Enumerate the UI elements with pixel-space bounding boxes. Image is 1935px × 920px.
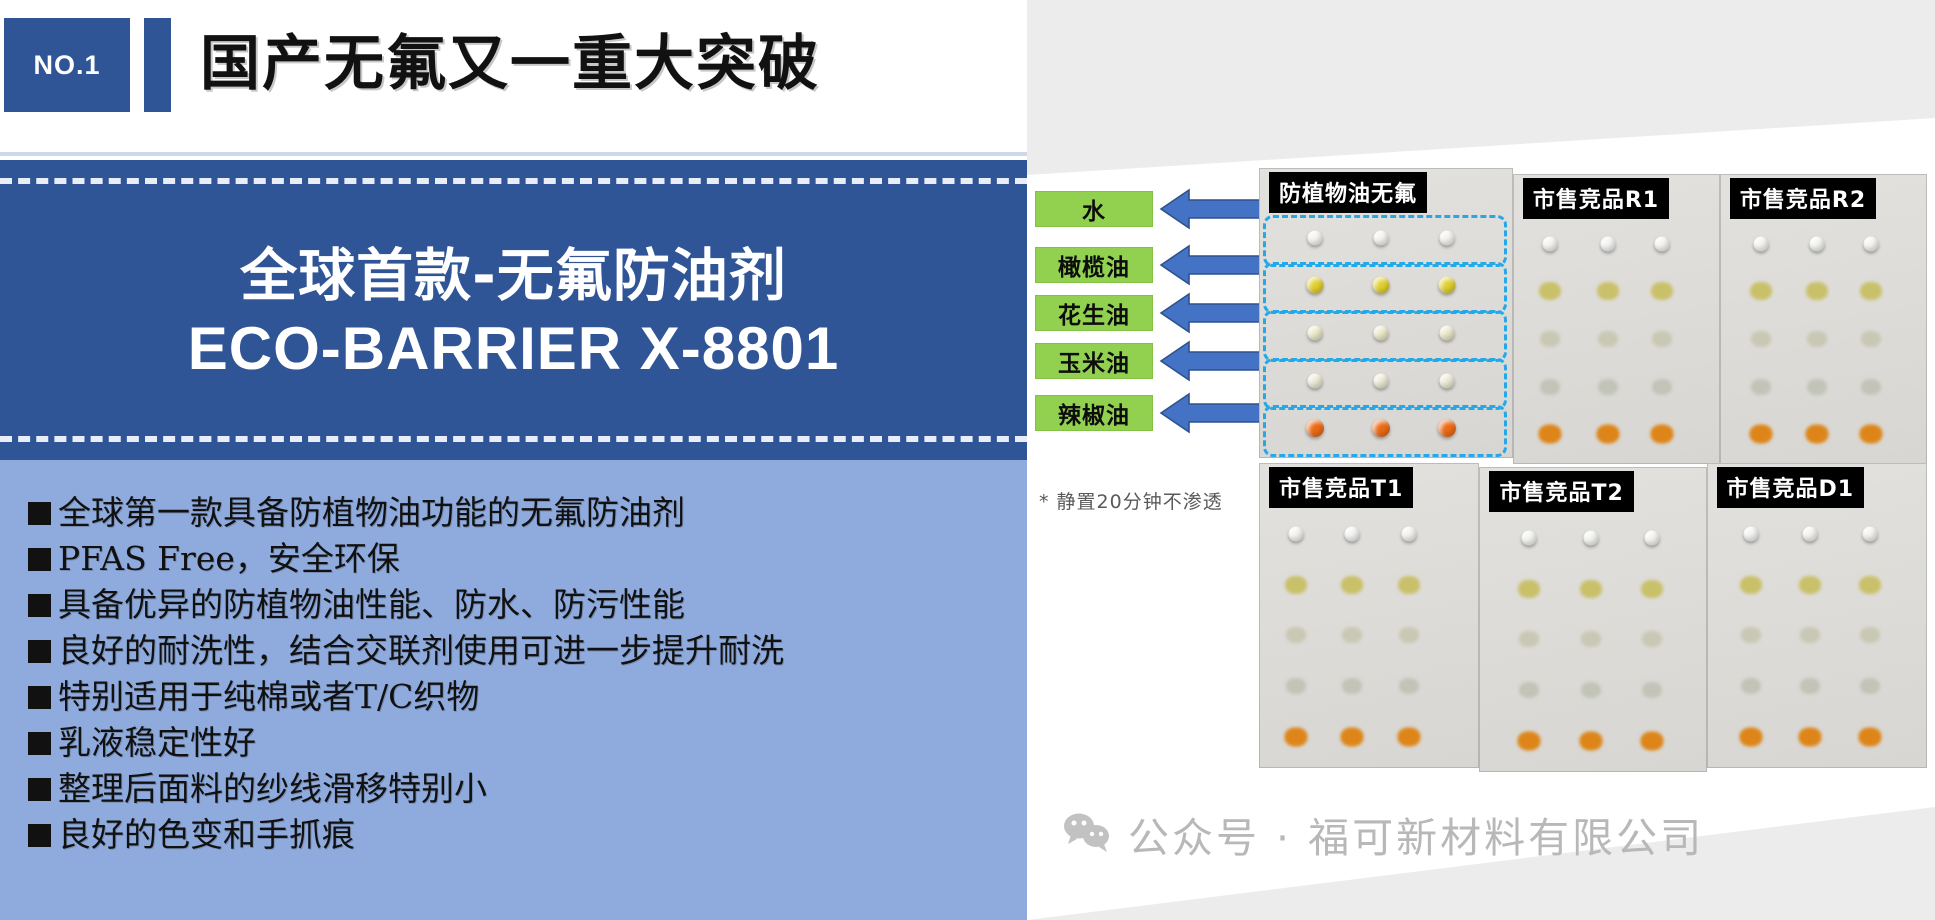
droplet xyxy=(1399,678,1419,694)
droplet xyxy=(1597,425,1620,444)
droplet xyxy=(1741,678,1761,694)
droplet-row xyxy=(1707,661,1927,712)
droplet xyxy=(1518,580,1540,598)
droplet xyxy=(1750,425,1773,444)
feature-bullet: 整理后面料的纱线滑移特别小 xyxy=(28,766,1027,812)
panel-label: 市售竞品D1 xyxy=(1717,467,1865,508)
bullet-square-icon xyxy=(28,778,51,801)
bullet-square-icon xyxy=(28,594,51,617)
photo-row-bottom: 市售竞品T1市售竞品T2市售竞品D1 xyxy=(1259,463,1927,768)
droplet xyxy=(1598,331,1618,347)
feature-bullet: 具备优异的防植物油性能、防水、防污性能 xyxy=(28,582,1027,628)
droplet xyxy=(1540,331,1560,347)
droplet xyxy=(1645,531,1660,546)
droplet-row xyxy=(1707,509,1927,560)
banner-dashed-top-border xyxy=(0,178,1027,184)
droplet xyxy=(1342,678,1362,694)
droplet-row xyxy=(1479,614,1706,665)
droplet xyxy=(1344,527,1359,542)
panel-label: 市售竞品T2 xyxy=(1489,471,1633,512)
droplet-matrix xyxy=(1259,214,1513,452)
watermark-text: 公众号 · 福可新材料有限公司 xyxy=(1128,804,1704,864)
droplet xyxy=(1860,282,1882,300)
droplet-row xyxy=(1513,220,1720,268)
droplet xyxy=(1289,527,1304,542)
banner-product-code: ECO-BARRIER X-8801 xyxy=(188,312,840,386)
droplet xyxy=(1522,531,1537,546)
left-arrow-icon xyxy=(1159,243,1263,287)
highlight-box xyxy=(1263,262,1507,314)
droplet-row xyxy=(1720,220,1927,268)
droplet xyxy=(1341,576,1363,594)
legend-row: 水 xyxy=(1035,184,1265,238)
feature-bullet: 特别适用于纯棉或者T/C织物 xyxy=(28,674,1027,720)
droplet-matrix xyxy=(1513,220,1720,458)
test-panel: 市售竞品D1 xyxy=(1707,463,1927,768)
droplet xyxy=(1858,727,1881,746)
watermark: 公众号 · 福可新材料有限公司 xyxy=(1062,804,1704,864)
feature-bullet-label: 整理后面料的纱线滑移特别小 xyxy=(58,766,487,812)
droplet xyxy=(1860,627,1880,643)
droplet-row xyxy=(1259,262,1513,310)
feature-bullet-label: 良好的色变和手抓痕 xyxy=(58,812,355,858)
feature-bullet-label: PFAS Free，安全环保 xyxy=(58,536,400,582)
droplet xyxy=(1800,678,1820,694)
droplet xyxy=(1650,425,1673,444)
droplet xyxy=(1861,331,1881,347)
droplet-row xyxy=(1720,268,1927,316)
droplet xyxy=(1861,379,1881,395)
feature-bullet: 良好的色变和手抓痕 xyxy=(28,812,1027,858)
droplet xyxy=(1740,576,1762,594)
feature-bullet: 良好的耐洗性，结合交联剂使用可进一步提升耐洗 xyxy=(28,628,1027,674)
droplet-matrix xyxy=(1479,513,1706,766)
left-arrow-icon xyxy=(1159,339,1263,383)
left-arrow-icon xyxy=(1159,391,1263,435)
droplet xyxy=(1806,425,1829,444)
product-banner: 全球首款-无氟防油剂 ECO-BARRIER X-8801 xyxy=(0,160,1027,460)
droplet xyxy=(1579,731,1602,750)
droplet xyxy=(1581,631,1601,647)
right-column: 水橄榄油花生油玉米油辣椒油 * 静置20分钟不渗透 防植物油无氟市售竞品R1市售… xyxy=(1027,0,1935,920)
decorative-diagonal-top xyxy=(1027,0,1935,175)
droplet-matrix xyxy=(1707,509,1927,762)
droplet-row xyxy=(1259,610,1479,661)
droplet xyxy=(1340,727,1363,746)
droplet xyxy=(1750,282,1772,300)
banner-dashed-bottom-border xyxy=(0,436,1027,442)
droplet-row xyxy=(1259,357,1513,405)
droplet xyxy=(1807,331,1827,347)
test-panel: 市售竞品T1 xyxy=(1259,463,1479,768)
droplet xyxy=(1519,631,1539,647)
bullet-square-icon xyxy=(28,732,51,755)
banner-content: 全球首款-无氟防油剂 ECO-BARRIER X-8801 xyxy=(0,208,1027,418)
liquid-legend: 水橄榄油花生油玉米油辣椒油 xyxy=(1035,176,1265,476)
droplet-row xyxy=(1479,513,1706,564)
feature-bullet-label: 具备优异的防植物油性能、防水、防污性能 xyxy=(58,582,685,628)
droplet xyxy=(1739,727,1762,746)
droplet xyxy=(1806,282,1828,300)
droplet xyxy=(1598,379,1618,395)
droplet xyxy=(1539,425,1562,444)
droplet-row xyxy=(1513,363,1720,411)
droplet xyxy=(1583,531,1598,546)
droplet-row xyxy=(1707,610,1927,661)
header-accent-bar xyxy=(144,18,171,112)
droplet xyxy=(1654,236,1669,251)
droplet xyxy=(1543,236,1558,251)
droplet xyxy=(1601,236,1616,251)
highlight-box xyxy=(1263,215,1507,267)
droplet xyxy=(1539,282,1561,300)
droplet-row xyxy=(1513,315,1720,363)
test-panel: 防植物油无氟 xyxy=(1259,168,1513,458)
page-title: 国产无氟又一重大突破 xyxy=(200,16,820,112)
wechat-icon xyxy=(1062,811,1114,858)
droplet xyxy=(1641,731,1664,750)
droplet xyxy=(1799,576,1821,594)
test-panel: 市售竞品R1 xyxy=(1513,174,1720,464)
droplet-row xyxy=(1720,363,1927,411)
droplet xyxy=(1652,331,1672,347)
bullet-square-icon xyxy=(28,548,51,571)
bullet-square-icon xyxy=(28,686,51,709)
legend-chip-1: 水 xyxy=(1035,191,1153,227)
droplet xyxy=(1519,682,1539,698)
panel-label: 市售竞品T1 xyxy=(1269,467,1413,508)
left-arrow-icon xyxy=(1159,187,1263,231)
droplet-row xyxy=(1513,268,1720,316)
droplet-row xyxy=(1707,711,1927,762)
panel-label: 市售竞品R2 xyxy=(1730,178,1876,219)
feature-bullet: PFAS Free，安全环保 xyxy=(28,536,1027,582)
highlight-box xyxy=(1263,310,1507,362)
test-photo-grid: 防植物油无氟市售竞品R1市售竞品R2 市售竞品T1市售竞品T2市售竞品D1 xyxy=(1259,168,1927,768)
droplet xyxy=(1540,379,1560,395)
droplet xyxy=(1864,236,1879,251)
test-panel: 市售竞品T2 xyxy=(1479,467,1706,772)
droplet-row xyxy=(1259,711,1479,762)
panel-label: 防植物油无氟 xyxy=(1269,172,1427,213)
droplet xyxy=(1754,236,1769,251)
droplet-row xyxy=(1720,315,1927,363)
droplet xyxy=(1860,678,1880,694)
droplet-row xyxy=(1259,509,1479,560)
droplet xyxy=(1286,627,1306,643)
droplet-matrix xyxy=(1259,509,1479,762)
droplet xyxy=(1862,527,1877,542)
droplet xyxy=(1398,576,1420,594)
droplet-row xyxy=(1259,560,1479,611)
legend-chip-3: 花生油 xyxy=(1035,295,1153,331)
legend-row: 玉米油 xyxy=(1035,336,1265,390)
no1-badge: NO.1 xyxy=(4,18,130,112)
droplet xyxy=(1285,576,1307,594)
droplet xyxy=(1286,678,1306,694)
droplet-row xyxy=(1479,564,1706,615)
legend-chip-5: 辣椒油 xyxy=(1035,395,1153,431)
droplet xyxy=(1652,379,1672,395)
feature-bullet-label: 乳液稳定性好 xyxy=(58,720,256,766)
droplet-row xyxy=(1707,560,1927,611)
droplet xyxy=(1342,627,1362,643)
droplet-row xyxy=(1259,404,1513,452)
droplet-row xyxy=(1259,661,1479,712)
feature-bullet-label: 良好的耐洗性，结合交联剂使用可进一步提升耐洗 xyxy=(58,628,784,674)
highlight-box xyxy=(1263,405,1507,457)
feature-bullet-label: 特别适用于纯棉或者T/C织物 xyxy=(58,674,479,720)
droplet xyxy=(1641,580,1663,598)
droplet xyxy=(1401,527,1416,542)
bullet-square-icon xyxy=(28,640,51,663)
legend-chip-2: 橄榄油 xyxy=(1035,247,1153,283)
header-divider xyxy=(0,152,1027,156)
left-arrow-icon xyxy=(1159,291,1263,335)
feature-bullet-list: 全球第一款具备防植物油功能的无氟防油剂 PFAS Free，安全环保具备优异的防… xyxy=(0,460,1027,920)
droplet xyxy=(1799,727,1822,746)
droplet xyxy=(1859,576,1881,594)
droplet-row xyxy=(1479,715,1706,766)
legend-row: 花生油 xyxy=(1035,288,1265,342)
legend-row: 橄榄油 xyxy=(1035,240,1265,294)
droplet xyxy=(1860,425,1883,444)
droplet-row xyxy=(1479,665,1706,716)
feature-bullet: 全球第一款具备防植物油功能的无氟防油剂 xyxy=(28,490,1027,536)
feature-bullet-label: 全球第一款具备防植物油功能的无氟防油剂 xyxy=(58,490,685,536)
test-panel: 市售竞品R2 xyxy=(1720,174,1927,464)
legend-row: 辣椒油 xyxy=(1035,388,1265,442)
droplet xyxy=(1597,282,1619,300)
slide-root: NO.1 国产无氟又一重大突破 全球首款-无氟防油剂 ECO-BARRIER X… xyxy=(0,0,1935,920)
droplet-matrix xyxy=(1720,220,1927,458)
droplet xyxy=(1642,682,1662,698)
droplet-row xyxy=(1259,214,1513,262)
droplet-row xyxy=(1720,410,1927,458)
legend-chip-4: 玉米油 xyxy=(1035,343,1153,379)
droplet xyxy=(1285,727,1308,746)
photo-row-top: 防植物油无氟市售竞品R1市售竞品R2 xyxy=(1259,168,1927,458)
feature-bullet: 乳液稳定性好 xyxy=(28,720,1027,766)
bullet-square-icon xyxy=(28,502,51,525)
droplet xyxy=(1399,627,1419,643)
droplet xyxy=(1651,282,1673,300)
droplet xyxy=(1580,580,1602,598)
droplet xyxy=(1741,627,1761,643)
droplet xyxy=(1743,527,1758,542)
test-footnote: * 静置20分钟不渗透 xyxy=(1039,487,1289,514)
panel-label: 市售竞品R1 xyxy=(1523,178,1669,219)
droplet xyxy=(1581,682,1601,698)
droplet xyxy=(1810,236,1825,251)
slide-header: NO.1 国产无氟又一重大突破 xyxy=(0,0,1027,152)
droplet xyxy=(1807,379,1827,395)
droplet xyxy=(1800,627,1820,643)
droplet xyxy=(1518,731,1541,750)
droplet xyxy=(1803,527,1818,542)
droplet-row xyxy=(1513,410,1720,458)
droplet xyxy=(1751,331,1771,347)
droplet xyxy=(1397,727,1420,746)
bullet-square-icon xyxy=(28,824,51,847)
highlight-box xyxy=(1263,358,1507,410)
left-column: NO.1 国产无氟又一重大突破 全球首款-无氟防油剂 ECO-BARRIER X… xyxy=(0,0,1027,920)
droplet xyxy=(1642,631,1662,647)
droplet-row xyxy=(1259,309,1513,357)
droplet xyxy=(1751,379,1771,395)
banner-chinese-title: 全球首款-无氟防油剂 xyxy=(240,240,787,312)
